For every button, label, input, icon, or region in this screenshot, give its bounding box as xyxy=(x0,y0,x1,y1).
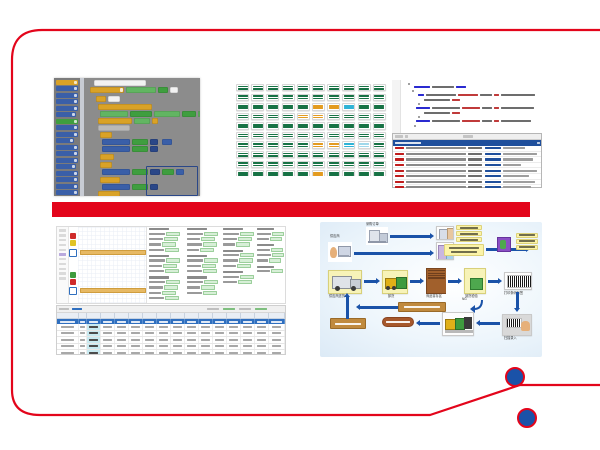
marker-node[interactable] xyxy=(69,249,77,257)
status-card[interactable] xyxy=(373,122,386,129)
note-check-pass[interactable] xyxy=(516,233,538,238)
status-card[interactable] xyxy=(251,103,264,110)
status-card[interactable] xyxy=(282,84,295,91)
status-card[interactable] xyxy=(312,161,325,168)
node-supplier-label: 供应商 xyxy=(330,235,340,238)
block-canvas[interactable] xyxy=(84,78,200,196)
console-title xyxy=(395,142,421,145)
log-console[interactable] xyxy=(392,133,542,188)
planning-text-column xyxy=(149,228,183,303)
node-transport-label: 供应商送货 xyxy=(329,295,345,298)
status-card[interactable] xyxy=(282,141,295,148)
note-task-order[interactable] xyxy=(456,237,482,242)
status-card[interactable] xyxy=(251,132,264,139)
card-grid-row xyxy=(236,94,390,101)
status-card[interactable] xyxy=(373,161,386,168)
gantt-bar[interactable] xyxy=(80,250,146,255)
code-editor-area[interactable] xyxy=(392,80,542,133)
status-card[interactable] xyxy=(282,170,295,176)
status-card[interactable] xyxy=(327,141,340,148)
node-scan-station-label: 采购订单 xyxy=(366,223,379,226)
arrow-unload-to-shelf xyxy=(410,280,420,283)
arrowhead-left xyxy=(476,320,480,326)
status-card[interactable] xyxy=(251,170,264,176)
status-card[interactable] xyxy=(236,141,249,148)
status-card[interactable] xyxy=(236,122,249,129)
status-card[interactable] xyxy=(297,170,310,176)
status-card[interactable] xyxy=(358,141,371,148)
status-card[interactable] xyxy=(312,132,325,139)
status-card[interactable] xyxy=(312,113,325,120)
node-transport-clipart[interactable] xyxy=(328,270,362,294)
status-card[interactable] xyxy=(236,84,249,91)
arrowhead-right xyxy=(458,278,462,284)
status-card[interactable] xyxy=(236,103,249,110)
status-card[interactable] xyxy=(373,94,386,101)
status-card[interactable] xyxy=(342,84,355,91)
card-grid-row xyxy=(236,122,390,129)
status-card[interactable] xyxy=(373,113,386,120)
node-scanner-clipart[interactable] xyxy=(502,314,532,336)
status-card[interactable] xyxy=(266,103,279,110)
node-reject-area[interactable] xyxy=(398,302,446,312)
table-row[interactable] xyxy=(57,350,285,355)
status-card[interactable] xyxy=(251,161,264,168)
status-card[interactable] xyxy=(266,94,279,101)
status-card[interactable] xyxy=(236,94,249,101)
panel-spreadsheet[interactable] xyxy=(56,305,286,355)
status-card[interactable] xyxy=(266,84,279,91)
status-card[interactable] xyxy=(236,132,249,139)
status-card[interactable] xyxy=(236,151,249,158)
status-card[interactable] xyxy=(236,113,249,120)
arrowhead-right xyxy=(376,278,380,284)
gantt-bar[interactable] xyxy=(80,288,146,293)
status-card[interactable] xyxy=(358,161,371,168)
status-card[interactable] xyxy=(282,122,295,129)
status-card[interactable] xyxy=(358,170,371,176)
status-card[interactable] xyxy=(327,151,340,158)
status-card[interactable] xyxy=(327,122,340,129)
status-card[interactable] xyxy=(327,103,340,110)
status-card[interactable] xyxy=(297,122,310,129)
node-complete-label[interactable] xyxy=(382,317,414,327)
status-card[interactable] xyxy=(297,84,310,91)
node-supplier-clipart[interactable] xyxy=(328,242,352,262)
arrowhead-left xyxy=(416,320,420,326)
arrow-shelf-to-inspection xyxy=(448,280,458,283)
marker-yellow[interactable] xyxy=(70,240,76,246)
card-grid-row xyxy=(236,161,390,168)
status-card[interactable] xyxy=(342,170,355,176)
status-card[interactable] xyxy=(358,132,371,139)
status-card[interactable] xyxy=(373,132,386,139)
block-palette[interactable] xyxy=(54,78,81,196)
node-unload-clipart[interactable] xyxy=(382,270,408,294)
status-card[interactable] xyxy=(297,103,310,110)
panel-logistics-flow[interactable]: 供应商 采购订单 xyxy=(320,222,542,357)
console-close-icon[interactable] xyxy=(537,142,540,145)
node-barcode-label: 打印条码标签 xyxy=(504,292,523,295)
arrow-transport-to-unload xyxy=(364,280,376,283)
panel-code-editor[interactable] xyxy=(392,80,542,188)
status-card[interactable] xyxy=(358,94,371,101)
status-card[interactable] xyxy=(282,161,295,168)
status-card[interactable] xyxy=(342,141,355,148)
sheet-toolbar[interactable] xyxy=(57,306,285,313)
status-card[interactable] xyxy=(251,113,264,120)
card-grid-row xyxy=(236,151,390,158)
status-card[interactable] xyxy=(266,151,279,158)
status-card[interactable] xyxy=(342,161,355,168)
status-card[interactable] xyxy=(358,122,371,129)
note-check-doc[interactable] xyxy=(516,239,538,244)
status-card[interactable] xyxy=(282,151,295,158)
slide-canvas: 供应商 采购订单 xyxy=(0,0,600,450)
marker-red[interactable] xyxy=(70,233,76,239)
arrow-reject-to-store xyxy=(360,306,398,309)
arrow-inspection-to-barcode xyxy=(488,280,498,283)
note-putaway-order[interactable] xyxy=(516,245,538,250)
node-scanner-label: 扫描录入 xyxy=(504,337,517,340)
status-card[interactable] xyxy=(327,113,340,120)
status-card[interactable] xyxy=(236,170,249,176)
status-card[interactable] xyxy=(266,161,279,168)
arrowhead-right xyxy=(430,233,434,239)
status-card[interactable] xyxy=(358,84,371,91)
card-grid-row xyxy=(236,141,390,148)
status-card[interactable] xyxy=(342,103,355,110)
status-card[interactable] xyxy=(373,84,386,91)
planning-text-column xyxy=(187,228,221,298)
status-card[interactable] xyxy=(266,141,279,148)
planning-sidebar-selected[interactable] xyxy=(59,253,67,255)
status-card[interactable] xyxy=(373,170,386,176)
status-card[interactable] xyxy=(251,84,264,91)
status-card[interactable] xyxy=(312,122,325,129)
marker-green[interactable] xyxy=(70,272,76,278)
status-card[interactable] xyxy=(327,84,340,91)
arrowhead-right xyxy=(498,278,502,284)
arrowhead-up xyxy=(344,293,350,297)
status-card[interactable] xyxy=(358,151,371,158)
status-card[interactable] xyxy=(297,141,310,148)
node-shelf-clipart[interactable] xyxy=(426,268,446,294)
status-card[interactable] xyxy=(266,122,279,129)
status-card[interactable] xyxy=(282,103,295,110)
status-card[interactable] xyxy=(358,113,371,120)
note-receipt[interactable] xyxy=(456,231,482,236)
status-card[interactable] xyxy=(342,151,355,158)
arrow-ng-curve xyxy=(470,300,484,314)
status-card[interactable] xyxy=(312,103,325,110)
note-product-info[interactable] xyxy=(456,225,482,230)
planning-text-column xyxy=(223,228,257,287)
status-card[interactable] xyxy=(327,94,340,101)
status-card[interactable] xyxy=(312,170,325,176)
status-card[interactable] xyxy=(236,161,249,168)
planning-text-column xyxy=(257,228,285,276)
arrow-reject-join xyxy=(346,306,349,309)
status-card[interactable] xyxy=(266,132,279,139)
planning-marker-column xyxy=(68,227,78,303)
note-qualified-batch[interactable] xyxy=(444,244,484,256)
status-card[interactable] xyxy=(342,132,355,139)
status-card[interactable] xyxy=(358,103,371,110)
node-doc-archive-clipart[interactable] xyxy=(496,236,512,252)
panel-planning-board[interactable] xyxy=(56,226,286,304)
arrow-barcode-to-scan xyxy=(516,292,519,308)
accent-dot-2 xyxy=(518,409,536,427)
arrow-supplier-to-erp xyxy=(354,252,430,255)
status-card[interactable] xyxy=(327,161,340,168)
marker-node[interactable] xyxy=(69,287,77,295)
arrow-scan-to-putaway xyxy=(480,322,500,325)
node-barcode-clipart[interactable] xyxy=(504,272,532,290)
card-grid-rows xyxy=(236,84,390,176)
status-card[interactable] xyxy=(251,94,264,101)
marker-red[interactable] xyxy=(70,279,76,285)
status-card[interactable] xyxy=(266,113,279,120)
node-reject-store[interactable] xyxy=(330,318,366,329)
panel-block-editor[interactable] xyxy=(54,78,200,196)
status-card[interactable] xyxy=(327,132,340,139)
node-unload-label: 卸货 xyxy=(388,295,394,298)
arrow-putaway-to-complete xyxy=(420,322,440,325)
card-grid-row xyxy=(236,170,390,176)
status-card[interactable] xyxy=(282,94,295,101)
card-grid-row xyxy=(236,132,390,139)
status-card[interactable] xyxy=(251,141,264,148)
node-scan-station-clipart[interactable] xyxy=(366,227,388,245)
node-inspection-clipart[interactable] xyxy=(464,268,486,294)
arrow-scan-to-erp xyxy=(390,235,430,238)
code-gutter xyxy=(392,80,401,133)
status-card[interactable] xyxy=(373,151,386,158)
status-card[interactable] xyxy=(342,94,355,101)
status-card[interactable] xyxy=(312,84,325,91)
arrowhead-right xyxy=(430,250,434,256)
status-card[interactable] xyxy=(297,94,310,101)
status-card[interactable] xyxy=(312,94,325,101)
status-card[interactable] xyxy=(297,113,310,120)
status-card[interactable] xyxy=(297,132,310,139)
status-card[interactable] xyxy=(282,132,295,139)
status-card[interactable] xyxy=(251,151,264,158)
arrowhead-left xyxy=(356,304,360,310)
planning-timeline-grid[interactable] xyxy=(78,227,147,303)
arrowhead-right xyxy=(420,278,424,284)
panel-card-grid[interactable] xyxy=(236,84,390,176)
status-card[interactable] xyxy=(282,113,295,120)
node-shelf-label: 商品暂存区 xyxy=(426,295,442,298)
status-card[interactable] xyxy=(297,151,310,158)
status-card[interactable] xyxy=(251,122,264,129)
status-card[interactable] xyxy=(312,151,325,158)
node-erp-clipart[interactable] xyxy=(436,226,454,240)
status-card[interactable] xyxy=(297,161,310,168)
annotation-ng: NG xyxy=(462,298,467,301)
card-grid-row xyxy=(236,84,390,91)
status-card[interactable] xyxy=(327,170,340,176)
status-card[interactable] xyxy=(312,141,325,148)
status-card[interactable] xyxy=(373,103,386,110)
status-card[interactable] xyxy=(373,141,386,148)
section-divider-bar xyxy=(52,202,530,217)
card-grid-row xyxy=(236,113,390,120)
log-row[interactable] xyxy=(393,185,541,188)
node-putaway-clipart[interactable] xyxy=(442,312,474,336)
status-card[interactable] xyxy=(266,170,279,176)
status-card[interactable] xyxy=(342,122,355,129)
arrowhead-down xyxy=(514,308,520,312)
status-card[interactable] xyxy=(342,113,355,120)
card-grid-row xyxy=(236,103,390,110)
accent-dot-1 xyxy=(506,368,524,386)
